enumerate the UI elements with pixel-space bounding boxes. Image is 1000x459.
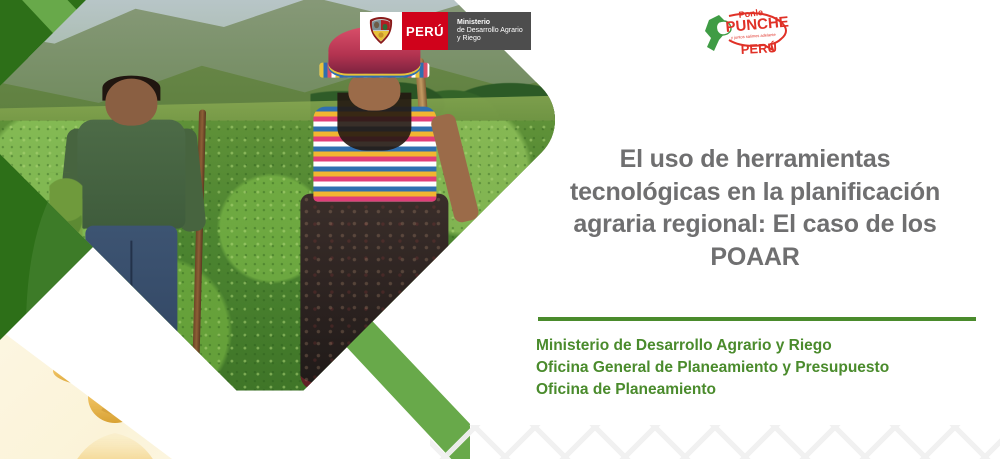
ministry-line-2: de Desarrollo Agrario [457,27,523,35]
ponle-punche-peru-logo: Ponle PUNCHE y juntos salimos adelante P… [695,4,795,60]
peru-wordmark: PERÚ [402,12,448,50]
male-sweater [78,119,186,228]
title-line-2: tecnológicas en la planificación [520,176,990,209]
chevron-watermark-pattern [430,425,1000,459]
ministry-line-1: Ministerio [457,19,523,27]
org-line-2: Oficina General de Planeamiento y Presup… [536,357,996,379]
title-line-3: agraria regional: El caso de los [520,208,990,241]
org-line-1: Ministerio de Desarrollo Agrario y Riego [536,335,996,357]
ministry-logo: PERÚ Ministerio de Desarrollo Agrario y … [360,12,531,50]
punche-logo-svg: Ponle PUNCHE y juntos salimos adelante P… [695,4,795,60]
title-line-4: POAAR [520,241,990,274]
ministry-name-block: Ministerio de Desarrollo Agrario y Riego [448,12,531,50]
male-head [106,79,157,126]
punche-word-peru: PERÚ [740,40,777,57]
presentation-slide: PERÚ Ministerio de Desarrollo Agrario y … [0,0,1000,459]
slide-title: El uso de herramientas tecnológicas en l… [520,143,990,273]
green-divider-rule [538,317,976,321]
coat-of-arms-svg [368,16,394,46]
org-line-3: Oficina de Planeamiento [536,379,996,401]
ministry-line-3: y Riego [457,35,523,43]
organization-block: Ministerio de Desarrollo Agrario y Riego… [536,335,996,401]
peru-coat-of-arms-icon [360,12,402,50]
title-line-1: El uso de herramientas [520,143,990,176]
